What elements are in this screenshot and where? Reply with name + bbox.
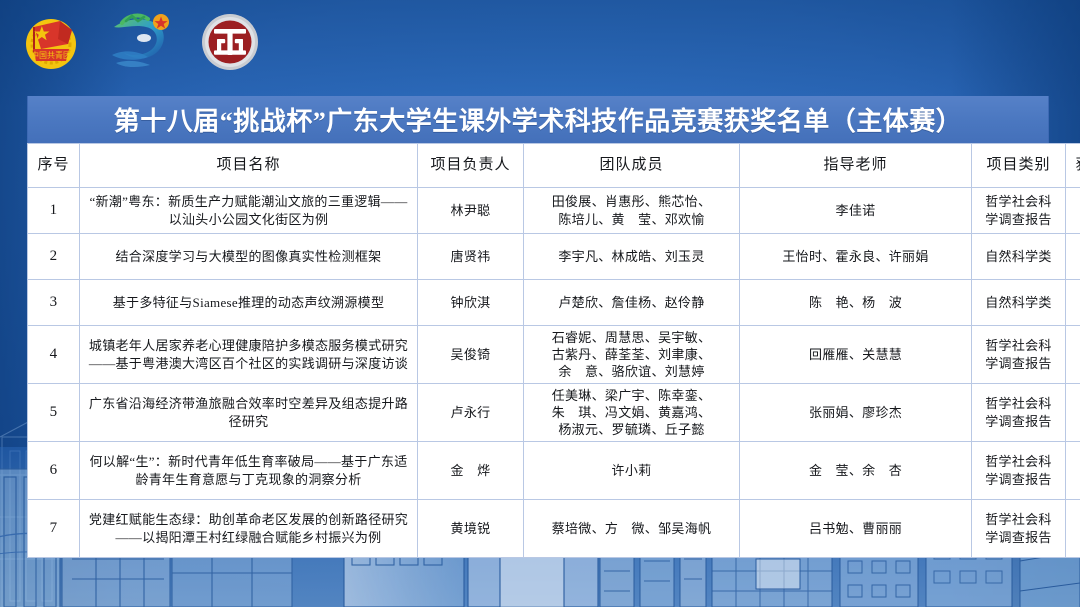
cell-category: 哲学社会科 学调查报告 [972, 500, 1066, 558]
cell-team: 田俊展、肖惠彤、熊芯怡、 陈培儿、黄 莹、邓欢愉 [524, 188, 740, 234]
cell-mentor: 回雁雁、关慧慧 [740, 326, 972, 384]
cell-mentor: 陈 艳、杨 波 [740, 280, 972, 326]
table-row: 2 结合深度学习与大模型的图像真实性检测框架 唐贤祎 李宇凡、林成皓、刘玉灵 王… [28, 234, 1080, 280]
cell-leader: 钟欣淇 [418, 280, 524, 326]
cell-award: 三等奖 [1066, 234, 1080, 280]
cell-category: 哲学社会科 学调查报告 [972, 384, 1066, 442]
cell-project: 何以解“生”：新时代青年低生育率破局——基于广东适龄青年生育意愿与丁克现象的洞察… [80, 442, 418, 500]
table-row: 1 “新潮”粤东：新质生产力赋能潮汕文旅的三重逻辑——以汕头小公园文化街区为例 … [28, 188, 1080, 234]
cell-leader: 吴俊锜 [418, 326, 524, 384]
cell-project: 党建红赋能生态绿：助创革命老区发展的创新路径研究——以揭阳潭王村红绿融合赋能乡村… [80, 500, 418, 558]
cell-award: 三等奖 [1066, 500, 1080, 558]
cell-mentor: 李佳诺 [740, 188, 972, 234]
guangdong-challenge-cup-emblem-icon [108, 11, 174, 73]
cell-index: 4 [28, 326, 80, 384]
cell-award: 三等奖 [1066, 442, 1080, 500]
cell-category: 哲学社会科 学调查报告 [972, 442, 1066, 500]
table-row: 7 党建红赋能生态绿：助创革命老区发展的创新路径研究——以揭阳潭王村红绿融合赋能… [28, 500, 1080, 558]
cell-team: 卢楚欣、詹佳杨、赵伶静 [524, 280, 740, 326]
cell-project: 结合深度学习与大模型的图像真实性检测框架 [80, 234, 418, 280]
cell-award: 三等奖 [1066, 280, 1080, 326]
cell-award: 三等奖 [1066, 384, 1080, 442]
cell-category: 自然科学类 [972, 234, 1066, 280]
table-row: 4 城镇老年人居家养老心理健康陪护多模态服务模式研究——基于粤港澳大湾区百个社区… [28, 326, 1080, 384]
cell-leader: 黄境锐 [418, 500, 524, 558]
column-header-leader: 项目负责人 [418, 144, 524, 188]
banner-title-bar: 第十八届“挑战杯”广东大学生课外学术科技作品竞赛获奖名单（主体赛） [27, 96, 1049, 143]
cell-index: 5 [28, 384, 80, 442]
table-row: 6 何以解“生”：新时代青年低生育率破局——基于广东适龄青年生育意愿与丁克现象的… [28, 442, 1080, 500]
cell-project: 基于多特征与Siamese推理的动态声纹溯源模型 [80, 280, 418, 326]
cell-team: 许小莉 [524, 442, 740, 500]
column-header-award: 获奖名次 [1066, 144, 1080, 188]
cell-leader: 唐贤祎 [418, 234, 524, 280]
cell-leader: 卢永行 [418, 384, 524, 442]
cell-mentor: 吕书勉、曹丽丽 [740, 500, 972, 558]
cell-mentor: 张丽娟、廖珍杰 [740, 384, 972, 442]
column-header-team: 团队成员 [524, 144, 740, 188]
cell-index: 6 [28, 442, 80, 500]
cell-index: 7 [28, 500, 80, 558]
cell-team: 蔡培微、方 微、邹吴海帆 [524, 500, 740, 558]
column-header-index: 序号 [28, 144, 80, 188]
cell-project: 城镇老年人居家养老心理健康陪护多模态服务模式研究——基于粤港澳大湾区百个社区的实… [80, 326, 418, 384]
cell-index: 3 [28, 280, 80, 326]
logo-group: 中国共青团 [20, 8, 260, 76]
svg-text:中国共青团: 中国共青团 [31, 50, 71, 60]
cell-category: 自然科学类 [972, 280, 1066, 326]
cell-project: “新潮”粤东：新质生产力赋能潮汕文旅的三重逻辑——以汕头小公园文化街区为例 [80, 188, 418, 234]
column-header-project: 项目名称 [80, 144, 418, 188]
cell-leader: 林尹聪 [418, 188, 524, 234]
cell-category: 哲学社会科 学调查报告 [972, 188, 1066, 234]
table-row: 5 广东省沿海经济带渔旅融合效率时空差异及组态提升路径研究 卢永行 任美琳、梁广… [28, 384, 1080, 442]
table-row: 3 基于多特征与Siamese推理的动态声纹溯源模型 钟欣淇 卢楚欣、詹佳杨、赵… [28, 280, 1080, 326]
cell-mentor: 王怡时、霍永良、许丽娟 [740, 234, 972, 280]
cell-index: 2 [28, 234, 80, 280]
cell-team: 任美琳、梁广宇、陈幸銮、 朱 琪、冯文娟、黄嘉鸿、 杨淑元、罗毓璘、丘子懿 [524, 384, 740, 442]
cell-mentor: 金 莹、余 杏 [740, 442, 972, 500]
cell-index: 1 [28, 188, 80, 234]
award-list-table: 序号 项目名称 项目负责人 团队成员 指导老师 项目类别 获奖名次 1 “新潮”… [27, 143, 1080, 558]
cell-team: 石睿妮、周慧思、吴宇敏、 古紫丹、薛荃荃、刘聿康、 余 意、骆欣谊、刘慧婷 [524, 326, 740, 384]
cell-leader: 金 烨 [418, 442, 524, 500]
column-header-mentor: 指导老师 [740, 144, 972, 188]
communist-youth-league-emblem-icon: 中国共青团 [20, 11, 82, 73]
page-title: 第十八届“挑战杯”广东大学生课外学术科技作品竞赛获奖名单（主体赛） [114, 101, 963, 138]
table-header-row: 序号 项目名称 项目负责人 团队成员 指导老师 项目类别 获奖名次 [28, 144, 1080, 188]
award-list-table-container: 序号 项目名称 项目负责人 团队成员 指导老师 项目类别 获奖名次 1 “新潮”… [27, 143, 1049, 558]
cell-award: 三等奖 [1066, 326, 1080, 384]
university-seal-emblem-icon [200, 12, 260, 72]
cell-award: 二等奖 [1066, 188, 1080, 234]
cell-project: 广东省沿海经济带渔旅融合效率时空差异及组态提升路径研究 [80, 384, 418, 442]
cell-category: 哲学社会科 学调查报告 [972, 326, 1066, 384]
column-header-category: 项目类别 [972, 144, 1066, 188]
cell-team: 李宇凡、林成皓、刘玉灵 [524, 234, 740, 280]
